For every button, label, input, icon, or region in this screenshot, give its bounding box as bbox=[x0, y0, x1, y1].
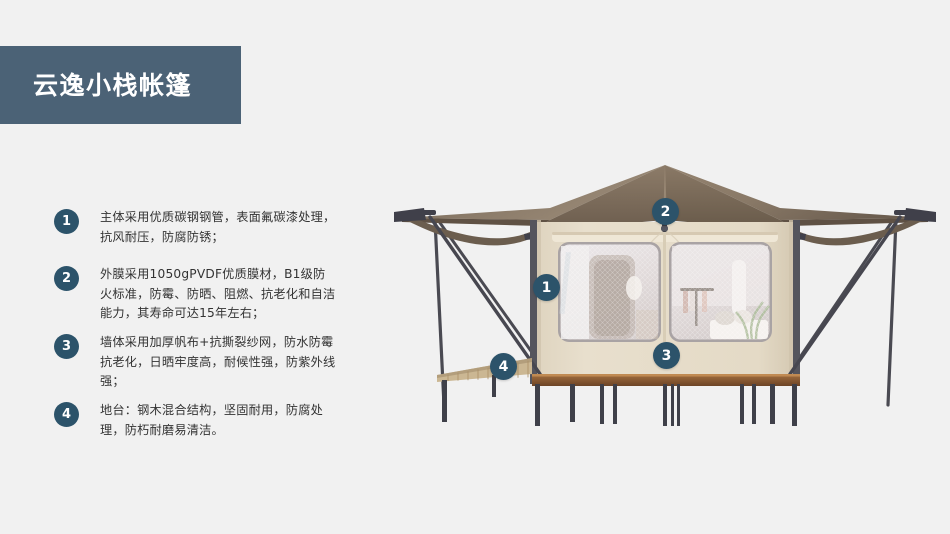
slide-canvas: 云逸小栈帐篷 1 主体采用优质碳钢钢管，表面氟碳漆处理，抗风耐压，防腐防锈； 2… bbox=[0, 0, 950, 534]
feature-item-2: 2 外膜采用1050gPVDF优质膜材，B1级防火标准，防霉、防晒、阻燃、抗老化… bbox=[54, 265, 336, 324]
marker-4[interactable]: 4 bbox=[490, 353, 517, 380]
feature-item-3: 3 墙体采用加厚帆布+抗撕裂纱网，防水防霉抗老化，日晒牢度高，耐候性强，防紫外线… bbox=[54, 333, 336, 392]
feature-text-3: 墙体采用加厚帆布+抗撕裂纱网，防水防霉抗老化，日晒牢度高，耐候性强，防紫外线强； bbox=[100, 333, 336, 392]
page-title: 云逸小栈帐篷 bbox=[33, 73, 192, 98]
feature-badge-1: 1 bbox=[54, 209, 79, 234]
feature-text-2: 外膜采用1050gPVDF优质膜材，B1级防火标准，防霉、防晒、阻燃、抗老化和自… bbox=[100, 265, 336, 324]
marker-2[interactable]: 2 bbox=[652, 198, 679, 225]
title-banner: 云逸小栈帐篷 bbox=[0, 46, 241, 124]
window-right bbox=[669, 242, 772, 342]
tent-illustration: 1 2 3 4 bbox=[380, 160, 950, 450]
feature-badge-2: 2 bbox=[54, 266, 79, 291]
marker-1[interactable]: 1 bbox=[533, 274, 560, 301]
marker-3[interactable]: 3 bbox=[653, 342, 680, 369]
feature-text-4: 地台：钢木混合结构，坚固耐用，防腐处理，防朽耐磨易清洁。 bbox=[100, 401, 336, 440]
feature-item-1: 1 主体采用优质碳钢钢管，表面氟碳漆处理，抗风耐压，防腐防锈； bbox=[54, 208, 336, 247]
feature-badge-4: 4 bbox=[54, 402, 79, 427]
window-left bbox=[558, 242, 661, 342]
feature-text-1: 主体采用优质碳钢钢管，表面氟碳漆处理，抗风耐压，防腐防锈； bbox=[100, 208, 336, 247]
feature-badge-3: 3 bbox=[54, 334, 79, 359]
feature-item-4: 4 地台：钢木混合结构，坚固耐用，防腐处理，防朽耐磨易清洁。 bbox=[54, 401, 336, 440]
